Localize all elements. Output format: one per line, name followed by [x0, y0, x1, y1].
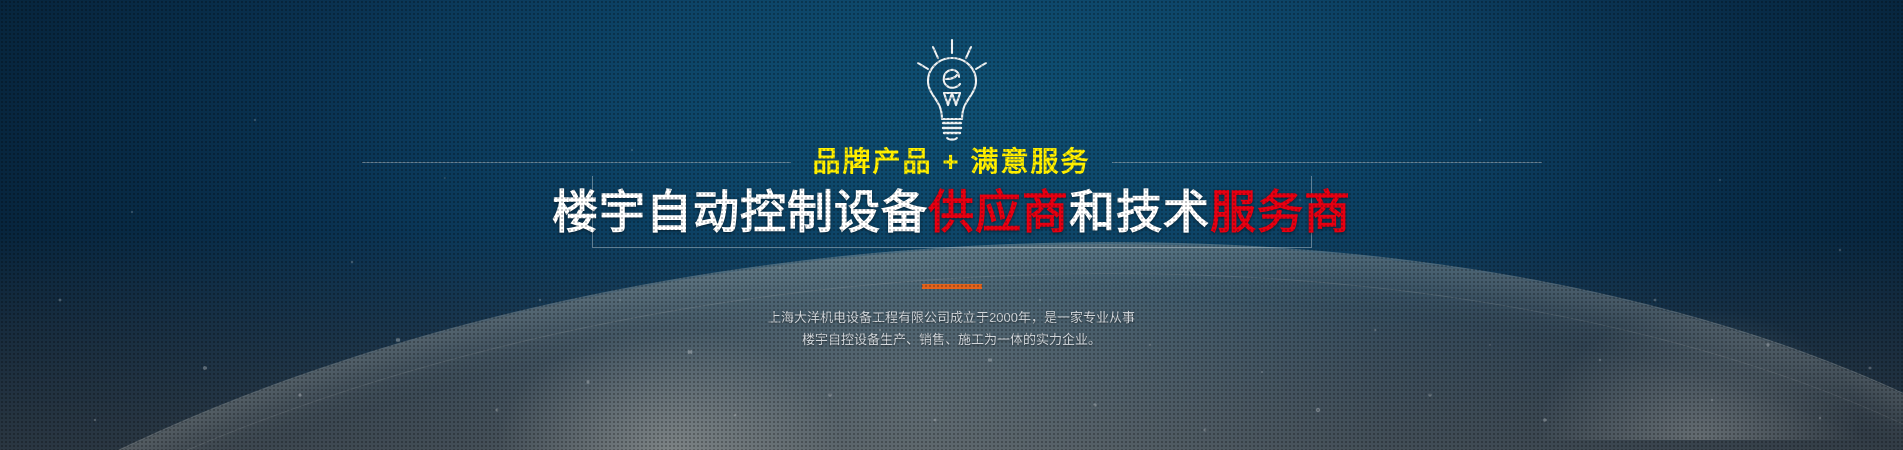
orange-divider [922, 284, 982, 289]
description-line-2: 楼宇自控设备生产、销售、施工为一体的实力企业。 [642, 329, 1262, 351]
title-part-2: 和技术 [1069, 186, 1210, 238]
banner-subtitle: 品牌产品 + 满意服务 [791, 148, 1113, 176]
title-part-1: 楼宇自动控制设备 [552, 186, 928, 238]
subtitle-row: 品牌产品 + 满意服务 [362, 148, 1542, 176]
banner-content: 品牌产品 + 满意服务 楼宇自动控制设备供应商和技术服务商 上海大洋机电设备工程… [0, 0, 1903, 450]
subtitle-rule-left [362, 162, 791, 163]
subtitle-rule-right [1112, 162, 1541, 163]
lightbulb-icon [907, 36, 997, 144]
banner-title: 楼宇自动控制设备供应商和技术服务商 [552, 189, 1351, 235]
title-frame: 楼宇自动控制设备供应商和技术服务商 [592, 176, 1312, 248]
title-highlight-2: 服务商 [1210, 186, 1351, 238]
hero-banner: 品牌产品 + 满意服务 楼宇自动控制设备供应商和技术服务商 上海大洋机电设备工程… [0, 0, 1903, 450]
banner-description: 上海大洋机电设备工程有限公司成立于2000年，是一家专业从事 楼宇自控设备生产、… [642, 307, 1262, 351]
description-line-1: 上海大洋机电设备工程有限公司成立于2000年，是一家专业从事 [642, 307, 1262, 329]
title-highlight-1: 供应商 [928, 186, 1069, 238]
